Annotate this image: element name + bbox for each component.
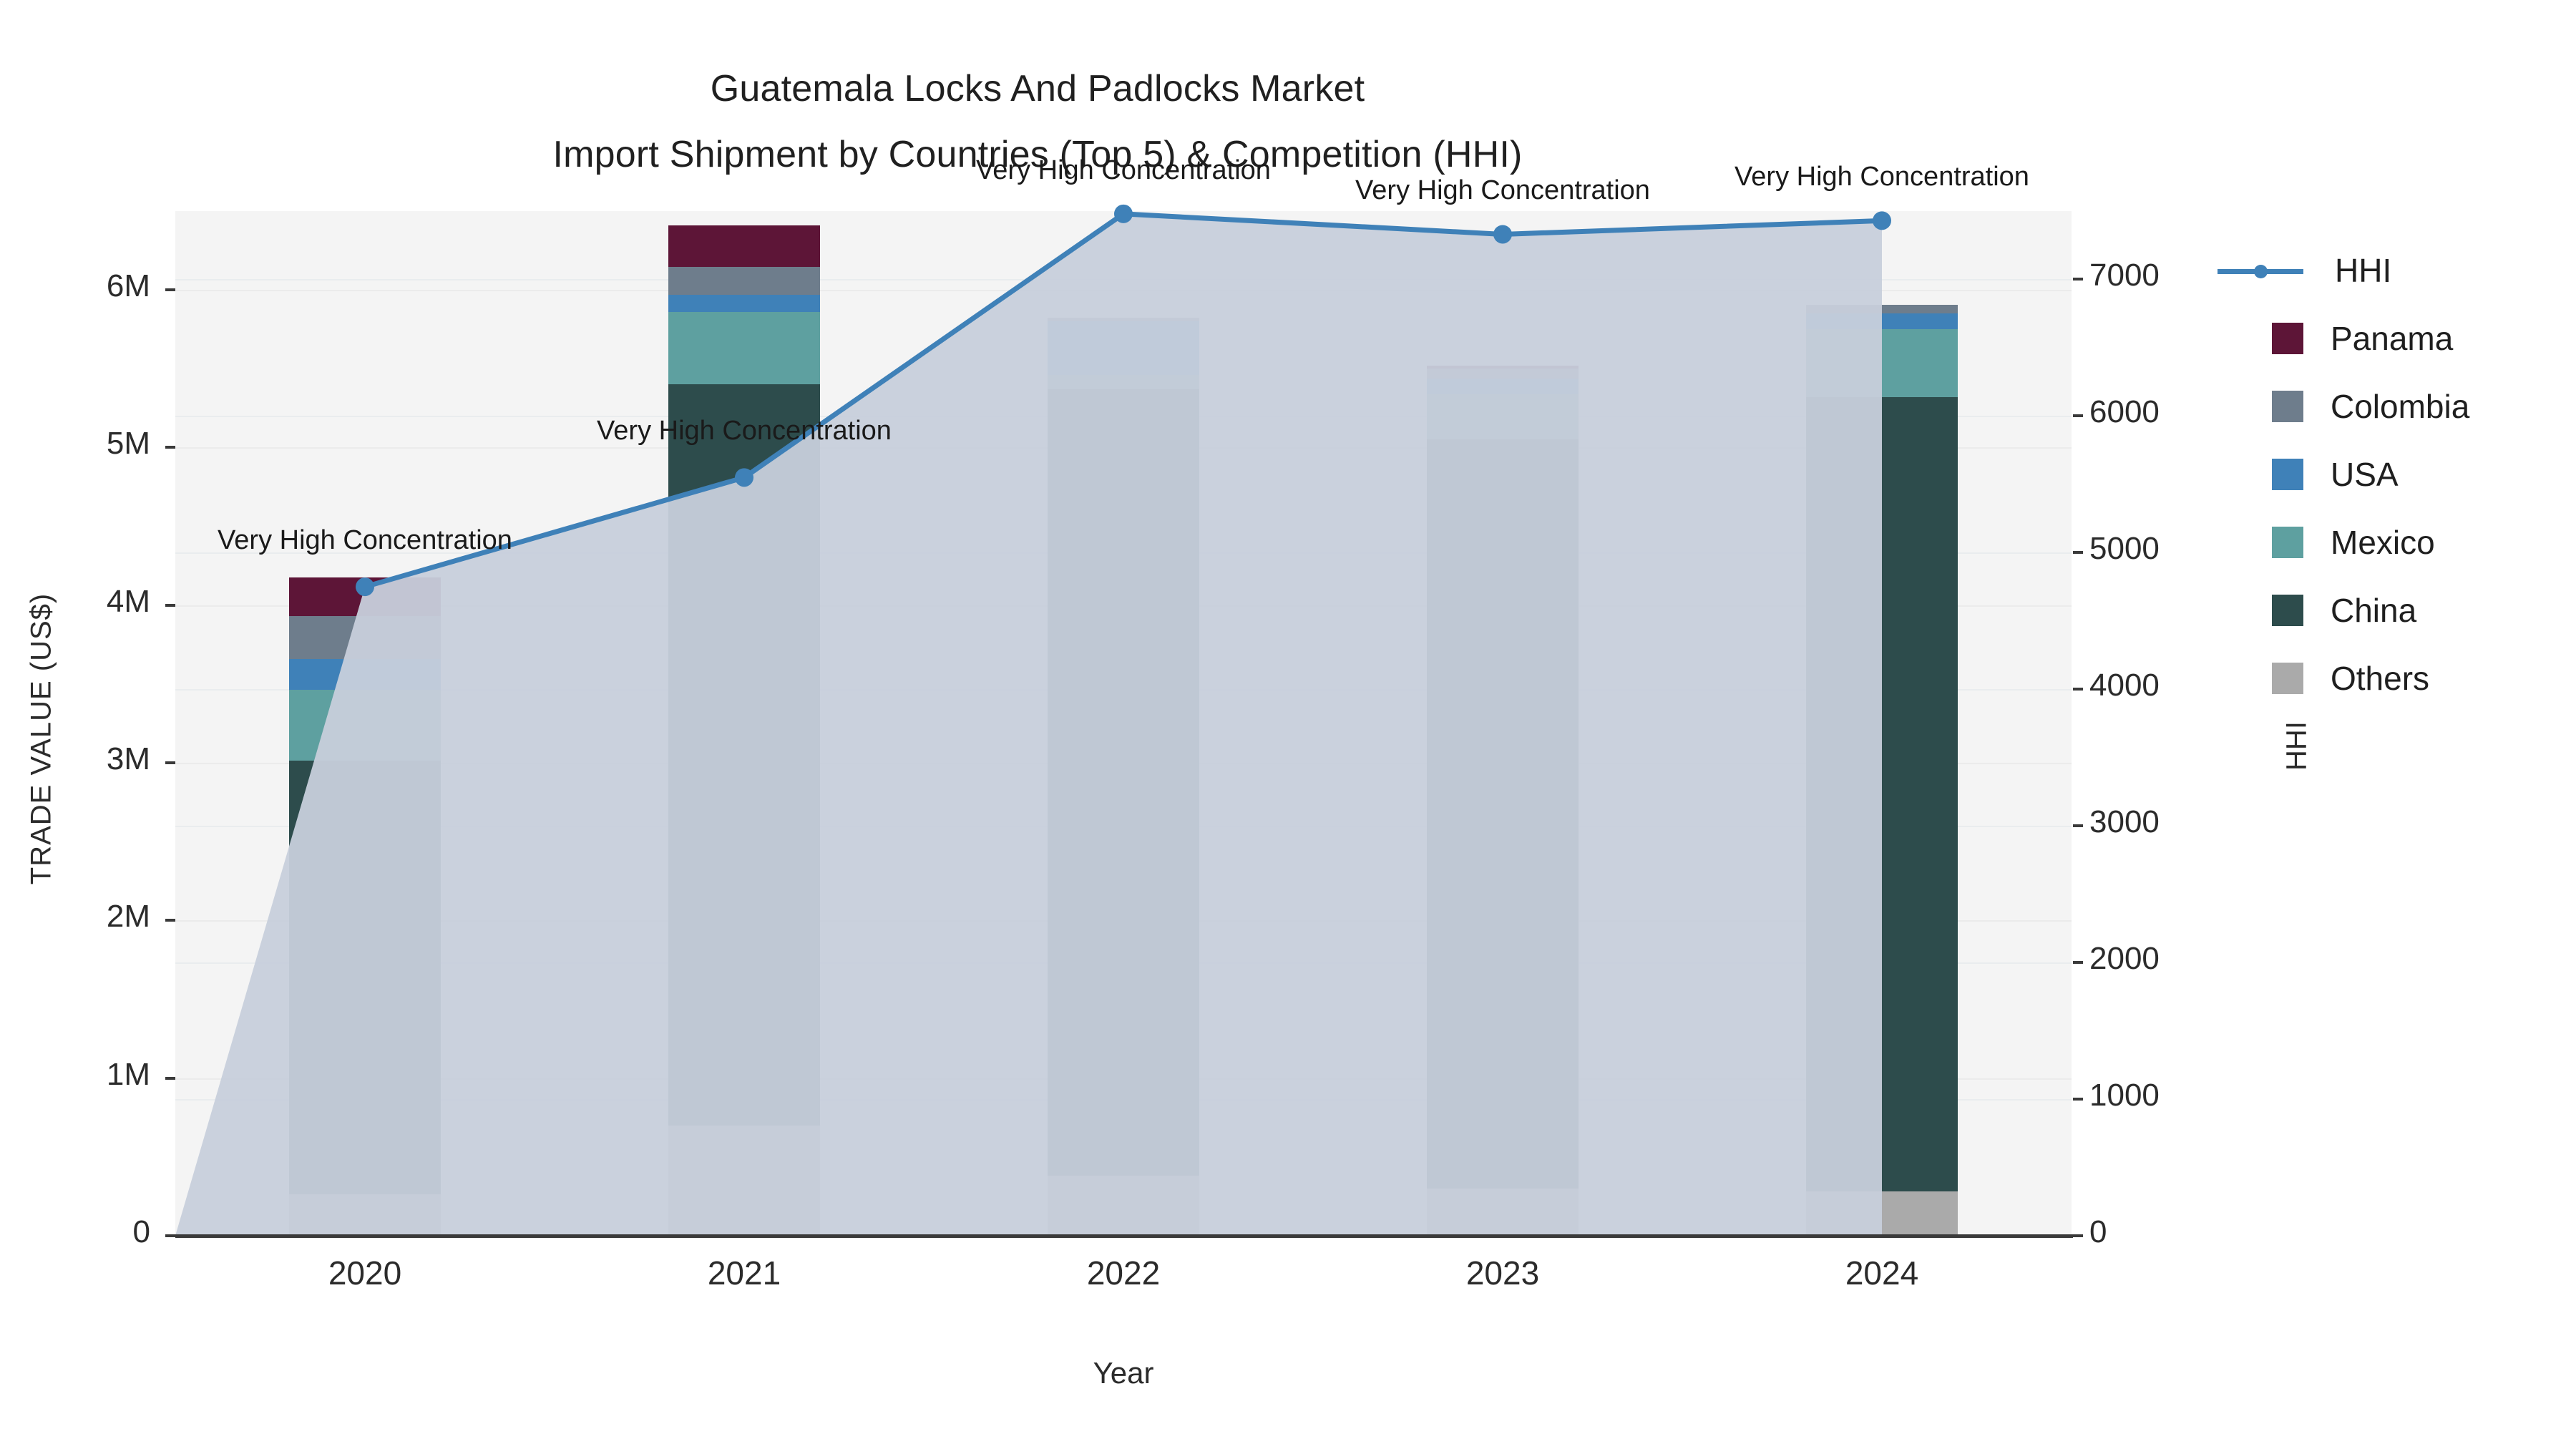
hhi-annotation-2020: Very High Concentration — [43, 525, 687, 556]
x-tick-label-2023: 2023 — [1395, 1254, 1610, 1292]
x-tick-label-2021: 2021 — [637, 1254, 852, 1292]
legend-label: Mexico — [2331, 523, 2435, 562]
legend-label: Colombia — [2331, 387, 2469, 426]
tick-left — [165, 761, 175, 764]
tick-right — [2073, 1234, 2083, 1237]
hhi-annotation-2024: Very High Concentration — [1560, 162, 2204, 192]
tick-right — [2073, 824, 2083, 827]
chart-title-line-1: Guatemala Locks And Padlocks Market — [0, 56, 2075, 122]
legend-item-usa[interactable]: USA — [2272, 440, 2572, 508]
plot-inner — [175, 211, 2072, 1236]
tick-left — [165, 446, 175, 449]
y-right-tick-label: 2000 — [2089, 941, 2275, 977]
chart-legend: HHIPanamaColombiaUSAMexicoChinaOthers — [2272, 236, 2572, 712]
y-axis-left-title: TRADE VALUE (US$) — [26, 510, 58, 968]
y-left-tick-label: 1M — [7, 1057, 150, 1093]
y-right-tick-label: 0 — [2089, 1214, 2275, 1250]
y-left-tick-label: 0 — [7, 1214, 150, 1250]
legend-label: HHI — [2335, 251, 2391, 290]
legend-swatch-usa — [2272, 459, 2303, 490]
x-tick-label-2024: 2024 — [1775, 1254, 1989, 1292]
y-left-tick-label: 6M — [7, 268, 150, 304]
hhi-marker-2020[interactable] — [356, 577, 374, 596]
legend-label: USA — [2331, 455, 2399, 494]
hhi-marker-2022[interactable] — [1114, 205, 1133, 223]
legend-label: Others — [2331, 659, 2429, 698]
hhi-area-fill — [175, 214, 1882, 1236]
tick-left — [165, 919, 175, 922]
tick-left — [165, 1077, 175, 1080]
hhi-marker-2024[interactable] — [1873, 211, 1891, 230]
legend-swatch-panama — [2272, 323, 2303, 354]
legend-item-colombia[interactable]: Colombia — [2272, 372, 2572, 440]
legend-swatch-colombia — [2272, 391, 2303, 422]
x-axis-spine — [175, 1234, 2073, 1238]
y-right-tick-label: 1000 — [2089, 1078, 2275, 1113]
tick-left — [165, 604, 175, 607]
hhi-marker-2021[interactable] — [735, 468, 753, 487]
y-left-tick-label: 5M — [7, 426, 150, 462]
y-right-tick-label: 5000 — [2089, 531, 2275, 567]
hhi-marker-2023[interactable] — [1493, 225, 1512, 243]
legend-item-panama[interactable]: Panama — [2272, 304, 2572, 372]
tick-right — [2073, 688, 2083, 691]
y-right-tick-label: 4000 — [2089, 668, 2275, 703]
plot-area: Very High ConcentrationVery High Concent… — [175, 211, 2072, 1236]
tick-right — [2073, 1098, 2083, 1101]
legend-item-china[interactable]: China — [2272, 576, 2572, 644]
tick-right — [2073, 278, 2083, 280]
hhi-annotation-2021: Very High Concentration — [422, 416, 1066, 447]
y-right-tick-label: 3000 — [2089, 804, 2275, 840]
legend-swatch-china — [2272, 595, 2303, 626]
tick-left — [165, 1234, 175, 1237]
tick-left — [165, 288, 175, 291]
legend-swatch-mexico — [2272, 527, 2303, 558]
y-right-tick-label: 6000 — [2089, 394, 2275, 430]
tick-right — [2073, 414, 2083, 417]
x-tick-label-2020: 2020 — [258, 1254, 472, 1292]
legend-label: China — [2331, 591, 2416, 630]
legend-swatch-others — [2272, 663, 2303, 694]
legend-item-mexico[interactable]: Mexico — [2272, 508, 2572, 576]
legend-item-others[interactable]: Others — [2272, 644, 2572, 712]
x-axis-title: Year — [175, 1356, 2072, 1390]
legend-line-marker-icon — [2218, 255, 2303, 286]
legend-label: Panama — [2331, 319, 2453, 358]
x-tick-label-2022: 2022 — [1016, 1254, 1231, 1292]
legend-item-hhi[interactable]: HHI — [2272, 236, 2572, 304]
tick-right — [2073, 961, 2083, 964]
tick-right — [2073, 551, 2083, 554]
hhi-series-overlay — [175, 211, 2072, 1236]
